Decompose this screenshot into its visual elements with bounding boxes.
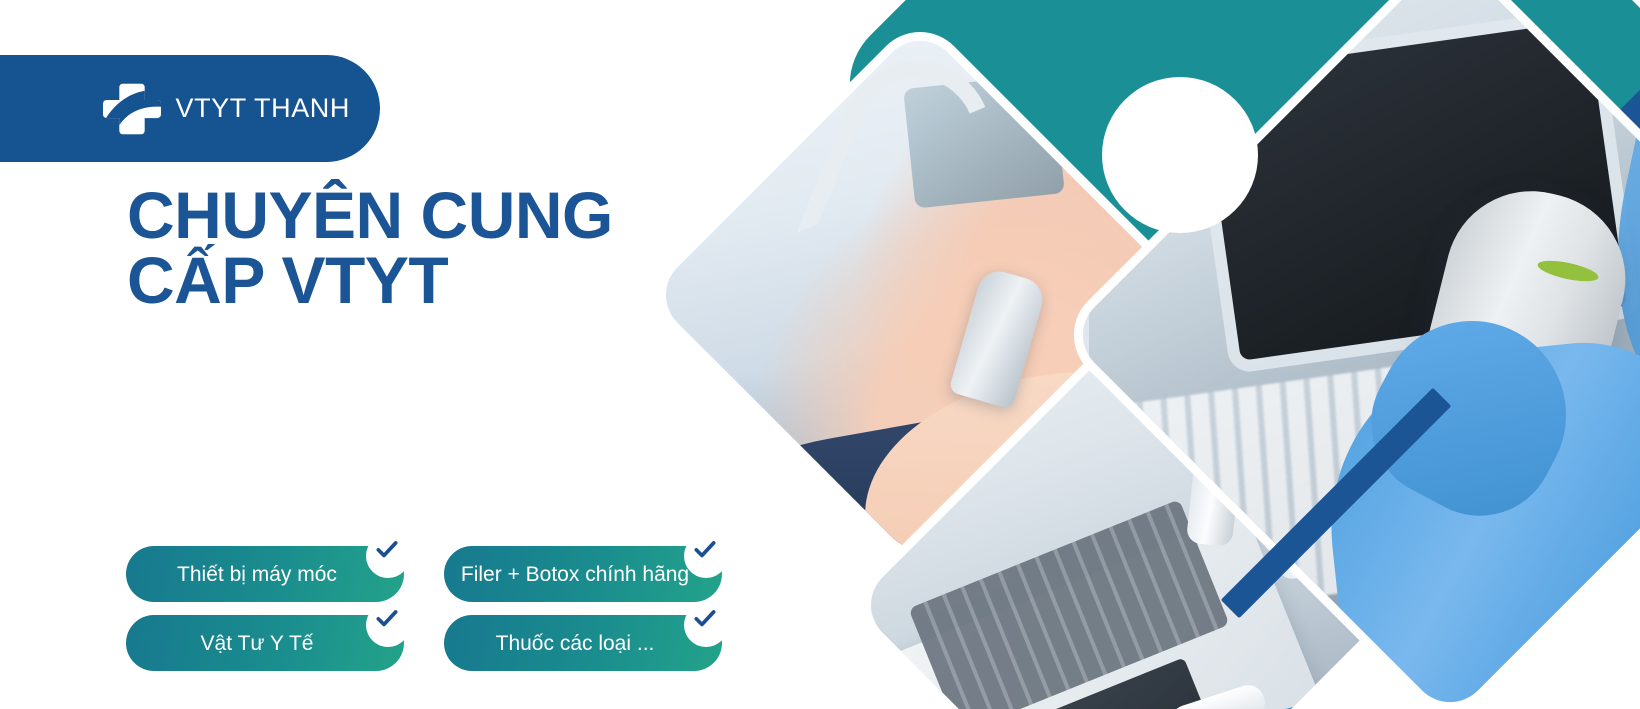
check-icon: [370, 532, 404, 566]
check-icon: [688, 601, 722, 635]
brand-logo-badge[interactable]: VTYT THANH: [0, 55, 380, 162]
check-icon: [688, 532, 722, 566]
check-icon: [370, 601, 404, 635]
headline-line-1: CHUYÊN CUNG: [127, 183, 727, 248]
white-circle-accent: [1102, 77, 1258, 233]
page-title: CHUYÊN CUNG CẤP VTYT: [127, 183, 727, 312]
content-panel: VTYT THANH CHUYÊN CUNG CẤP VTYT Thiết bị…: [0, 0, 760, 709]
probe-cord: [796, 39, 1014, 290]
feature-pill-grid: Thiết bị máy móc Filer + Botox chính hãn…: [126, 546, 722, 671]
medical-cross-swoosh-icon: [103, 80, 161, 138]
feature-pill-filler-botox[interactable]: Filer + Botox chính hãng: [444, 546, 722, 602]
feature-pill-medical-supplies[interactable]: Vật Tư Y Tế: [126, 615, 404, 671]
feature-pill-label: Thiết bị máy móc: [177, 564, 337, 585]
headline-line-2: CẤP VTYT: [127, 248, 727, 313]
feature-pill-label: Thuốc các loại ...: [496, 633, 655, 654]
feature-pill-medicines[interactable]: Thuốc các loại ...: [444, 615, 722, 671]
feature-pill-label: Vật Tư Y Tế: [201, 633, 314, 654]
feature-pill-label: Filer + Botox chính hãng: [461, 564, 689, 585]
feature-pill-equipment[interactable]: Thiết bị máy móc: [126, 546, 404, 602]
brand-name: VTYT THANH: [175, 93, 350, 124]
hero-banner: VTYT THANH CHUYÊN CUNG CẤP VTYT Thiết bị…: [0, 0, 1640, 709]
